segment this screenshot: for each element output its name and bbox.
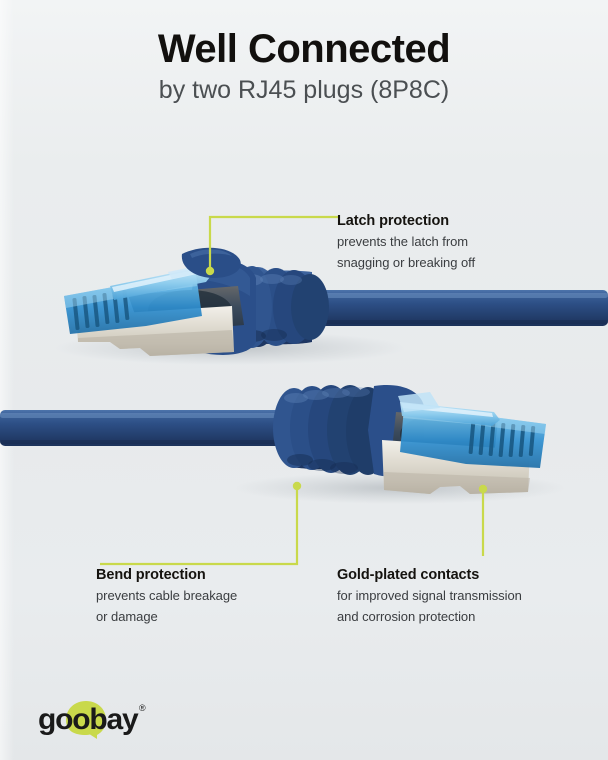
upper-cable <box>300 290 608 326</box>
product-image <box>0 120 608 560</box>
callout-gold-heading: Gold-plated contacts <box>337 566 587 584</box>
page-title: Well Connected <box>0 0 608 70</box>
callout-gold-plated-contacts: Gold-plated contacts for improved signal… <box>337 566 587 626</box>
logo-registered-mark: ® <box>139 704 146 713</box>
callout-latch-line2: snagging or breaking off <box>337 253 577 272</box>
callout-latch-line1: prevents the latch from <box>337 232 577 251</box>
infographic-page: Well Connected by two RJ45 plugs (8P8C) <box>0 0 608 760</box>
callout-gold-line1: for improved signal transmission <box>337 586 587 605</box>
goobay-logo: goobay ® <box>38 700 168 740</box>
lower-plug-assembly <box>0 385 565 504</box>
logo-wordmark: goobay <box>38 700 137 740</box>
callout-bend-line1: prevents cable breakage <box>96 586 316 605</box>
lower-cable <box>0 410 300 446</box>
callout-gold-line2: and corrosion protection <box>337 607 587 626</box>
header: Well Connected by two RJ45 plugs (8P8C) <box>0 0 608 105</box>
callout-bend-heading: Bend protection <box>96 566 316 584</box>
callout-bend-protection: Bend protection prevents cable breakage … <box>96 566 316 626</box>
callout-latch-protection: Latch protection prevents the latch from… <box>337 212 577 272</box>
callout-bend-line2: or damage <box>96 607 316 626</box>
rj45-cable-illustration <box>0 120 608 560</box>
callout-latch-heading: Latch protection <box>337 212 577 230</box>
page-subtitle: by two RJ45 plugs (8P8C) <box>0 70 608 105</box>
